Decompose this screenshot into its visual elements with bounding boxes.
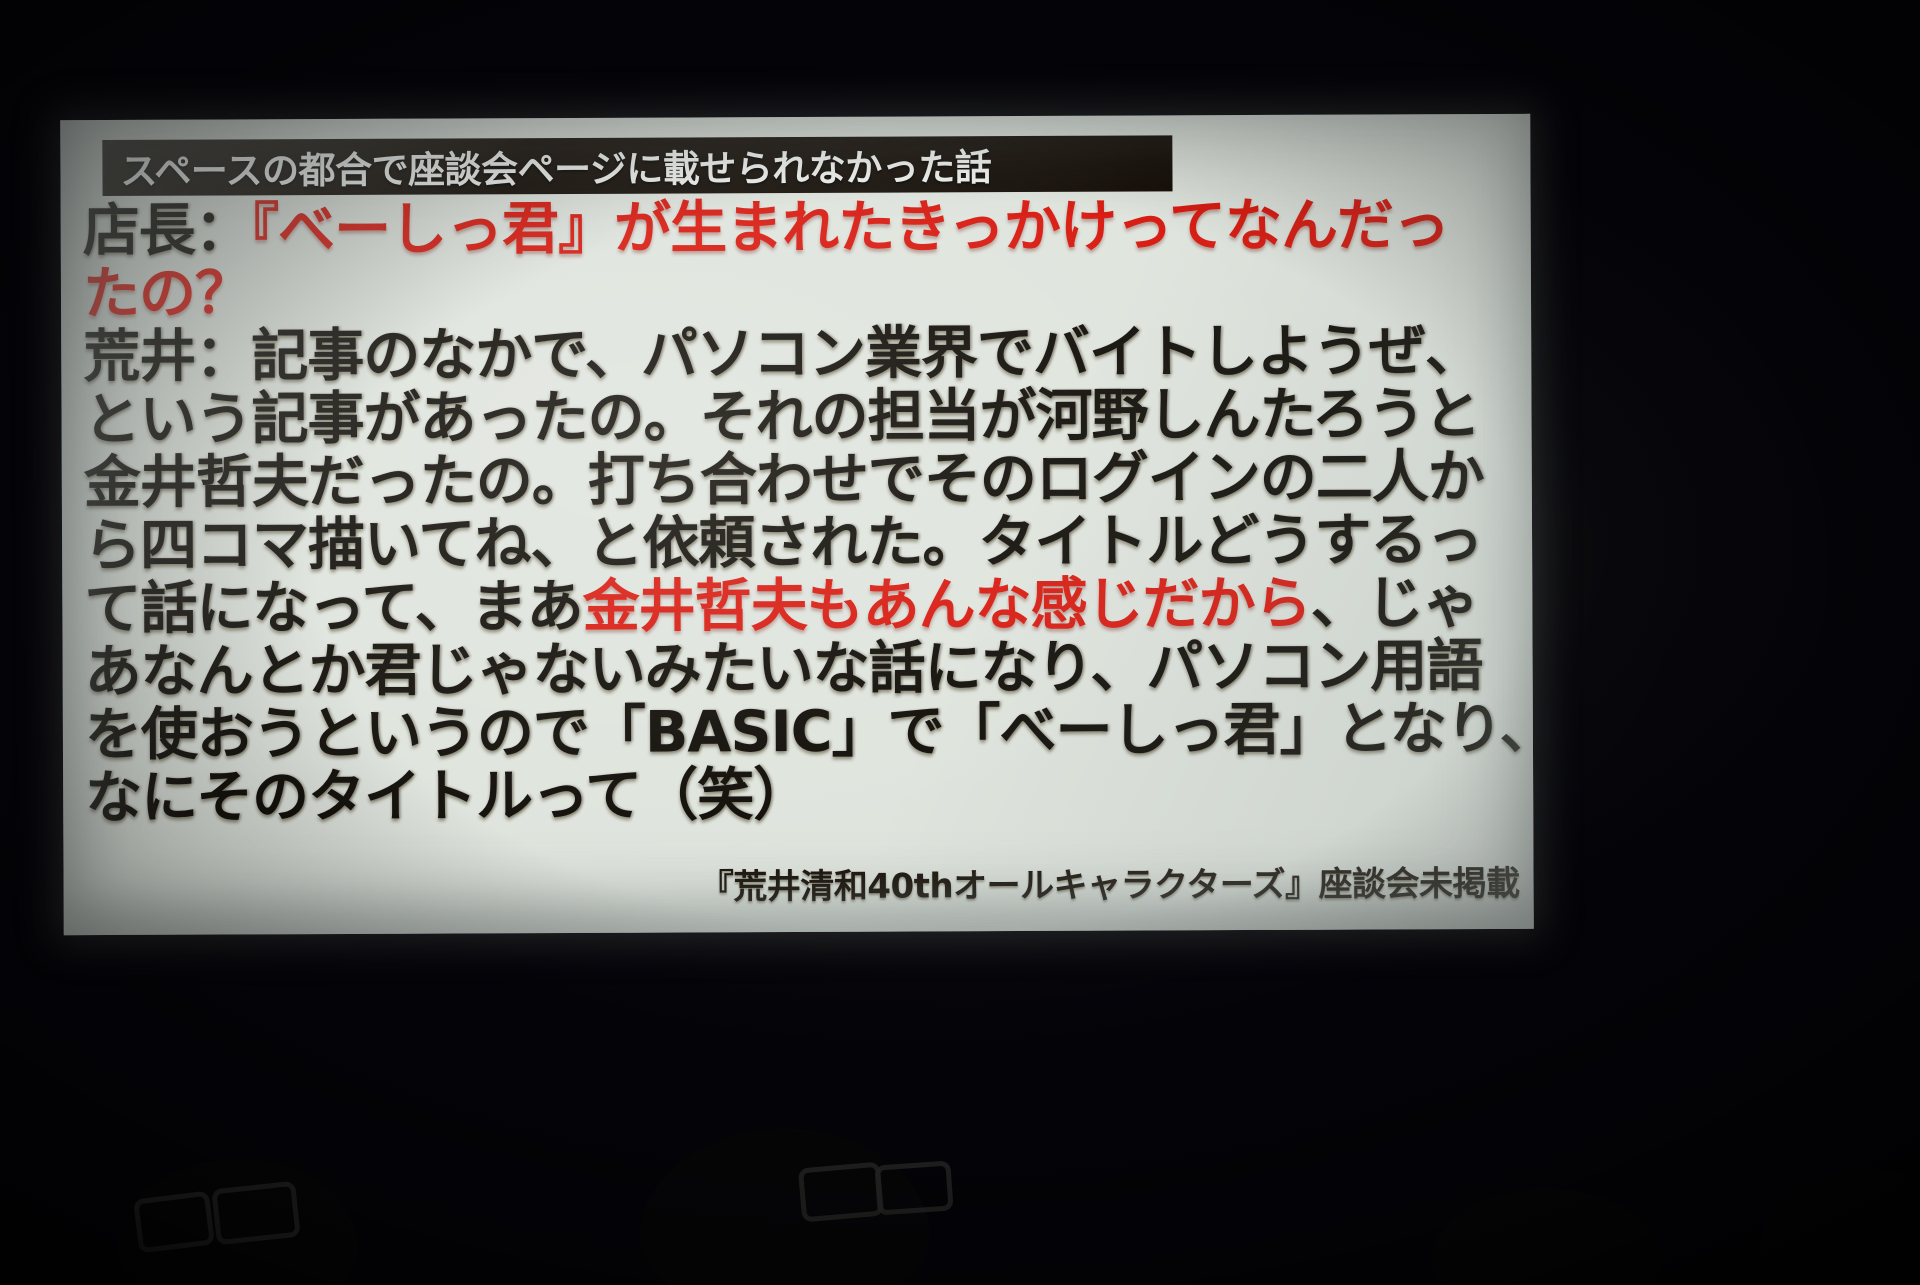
- projection-screen: スペースの都合で座談会ページに載せられなかった話 店長：『べーしっ君』が生まれた…: [60, 114, 1534, 935]
- answer-line-1-text: 荒井：記事のなかで、パソコン業界でバイトしようぜ、: [83, 318, 1481, 390]
- eyeglasses-icon: [798, 1162, 884, 1223]
- eyeglasses-icon: [874, 1160, 953, 1215]
- audience-head: [640, 1129, 930, 1285]
- question-line-1: 店長：『べーしっ君』が生まれたきっかけってなんだっ: [83, 194, 1513, 263]
- question-line-2-red: たの？: [83, 260, 251, 327]
- answer-line-7-text: を使おうというので「BASIC」で「べーしっ君」となり、: [85, 696, 1534, 768]
- answer-line-7: を使おうというので「BASIC」で「べーしっ君」となり、: [85, 698, 1515, 767]
- photo-stage: スペースの都合で座談会ページに載せられなかった話 店長：『べーしっ君』が生まれた…: [0, 0, 1920, 1285]
- answer-line-8: なにそのタイトルって（笑）: [85, 761, 1515, 830]
- question-speaker-label: 店長：: [83, 197, 251, 264]
- answer-line-3: 金井哲夫だったの。打ち合わせでそのログインの二人か: [84, 446, 1514, 515]
- audience-head: [1432, 1189, 1662, 1285]
- answer-line-4: ら四コマ描いてね、と依頼された。タイトルどうするっ: [84, 509, 1514, 578]
- audience-head: [118, 1159, 358, 1285]
- answer-line-5-highlight: 金井哲夫もあんな感じだから: [583, 571, 1311, 640]
- eyeglasses-icon: [211, 1181, 300, 1245]
- slide-body: 店長：『べーしっ君』が生まれたきっかけってなんだっ たの？ 荒井：記事のなかで、…: [83, 194, 1516, 830]
- slide-source-attribution: 『荒井清和40thオールキャラクターズ』座談会未掲載: [119, 856, 1519, 911]
- answer-line-5: て話になって、まあ金井哲夫もあんな感じだから、じゃ: [84, 572, 1514, 641]
- eyeglasses-icon: [133, 1191, 215, 1254]
- answer-line-8-text: なにそのタイトルって（笑）: [85, 762, 809, 831]
- answer-line-4-text: ら四コマ描いてね、と依頼された。タイトルどうするっ: [84, 507, 1483, 579]
- question-line-2: たの？: [83, 257, 1513, 326]
- answer-line-2-text: という記事があったの。それの担当が河野しんたろうと: [83, 381, 1480, 453]
- audience-head: [1760, 1169, 1920, 1285]
- audience-silhouettes: [0, 1095, 1920, 1285]
- answer-line-1: 荒井：記事のなかで、パソコン業界でバイトしようぜ、: [83, 320, 1513, 389]
- slide-header-band: スペースの都合で座談会ページに載せられなかった話: [102, 135, 1172, 196]
- answer-line-6-text: あなんとか君じゃないみたいな話になり、パソコン用語: [84, 633, 1482, 705]
- answer-line-5-part-a: て話になって、まあ: [84, 574, 583, 642]
- answer-line-2: という記事があったの。それの担当が河野しんたろうと: [83, 383, 1513, 452]
- slide-content: スペースの都合で座談会ページに載せられなかった話 店長：『べーしっ君』が生まれた…: [60, 114, 1534, 935]
- answer-line-3-text: 金井哲夫だったの。打ち合わせでそのログインの二人か: [84, 444, 1484, 516]
- question-line-1-red: 『べーしっ君』が生まれたきっかけってなんだっ: [251, 192, 1450, 263]
- answer-line-5-part-c: 、じゃ: [1311, 570, 1479, 637]
- slide-header-text: スペースの都合で座談会ページに載せられなかった話: [120, 134, 1160, 197]
- answer-line-6: あなんとか君じゃないみたいな話になり、パソコン用語: [85, 635, 1515, 704]
